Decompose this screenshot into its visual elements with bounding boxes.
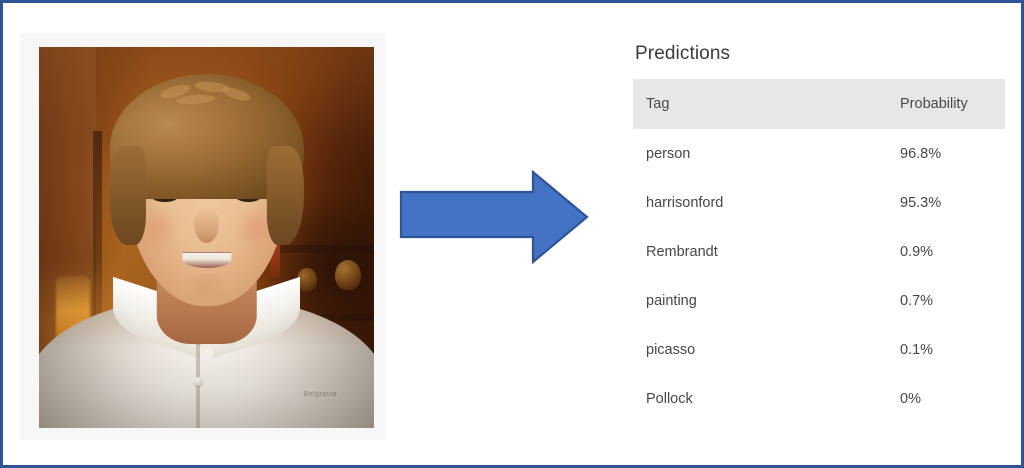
- cell-probability: 0%: [900, 374, 1005, 423]
- table-row[interactable]: harrisonford 95.3%: [633, 178, 1005, 227]
- face-chin: [174, 273, 240, 302]
- hair-strand-3: [221, 84, 252, 103]
- hair-sideburn-left: [109, 146, 146, 245]
- cell-tag: harrisonford: [633, 178, 900, 227]
- table-row[interactable]: picasso 0.1%: [633, 325, 1005, 374]
- table-row[interactable]: Pollock 0%: [633, 374, 1005, 423]
- cell-tag: Rembrandt: [633, 227, 900, 276]
- chef-jacket-button-2: [194, 377, 203, 386]
- photo-background-jar-1: [335, 260, 361, 290]
- screenshot-root: Belgravia: [0, 0, 1024, 468]
- table-row[interactable]: person 96.8%: [633, 129, 1005, 178]
- predictions-table-body: person 96.8% harrisonford 95.3% Rembrand…: [633, 129, 1005, 423]
- right-arrow-icon: [399, 170, 589, 264]
- predictions-panel: Predictions Tag Probability person 96.8%…: [633, 43, 1005, 423]
- cell-tag: person: [633, 129, 900, 178]
- photo-background-jar-2: [297, 268, 317, 292]
- table-row[interactable]: painting 0.7%: [633, 276, 1005, 325]
- cell-tag: picasso: [633, 325, 900, 374]
- cell-tag: painting: [633, 276, 900, 325]
- chef-jacket-logo: Belgravia: [303, 391, 337, 398]
- photo-content: Belgravia: [39, 47, 374, 428]
- cell-probability: 0.7%: [900, 276, 1005, 325]
- predictions-table-head: Tag Probability: [633, 79, 1005, 129]
- face-nose: [194, 208, 219, 244]
- table-header-row: Tag Probability: [633, 79, 1005, 129]
- face-smile: [182, 252, 231, 269]
- table-row[interactable]: Rembrandt 0.9%: [633, 227, 1005, 276]
- hair-sideburn-right: [267, 146, 304, 245]
- cell-probability: 0.1%: [900, 325, 1005, 374]
- cell-probability: 95.3%: [900, 178, 1005, 227]
- predictions-table: Tag Probability person 96.8% harrisonfor…: [633, 79, 1005, 423]
- cell-tag: Pollock: [633, 374, 900, 423]
- flow-arrow: [399, 170, 589, 264]
- column-header-probability[interactable]: Probability: [900, 79, 1005, 129]
- cell-probability: 0.9%: [900, 227, 1005, 276]
- predictions-title: Predictions: [635, 43, 1005, 65]
- column-header-tag[interactable]: Tag: [633, 79, 900, 129]
- image-card: Belgravia: [20, 33, 386, 440]
- cell-probability: 96.8%: [900, 129, 1005, 178]
- analyzed-photo: Belgravia: [39, 47, 374, 428]
